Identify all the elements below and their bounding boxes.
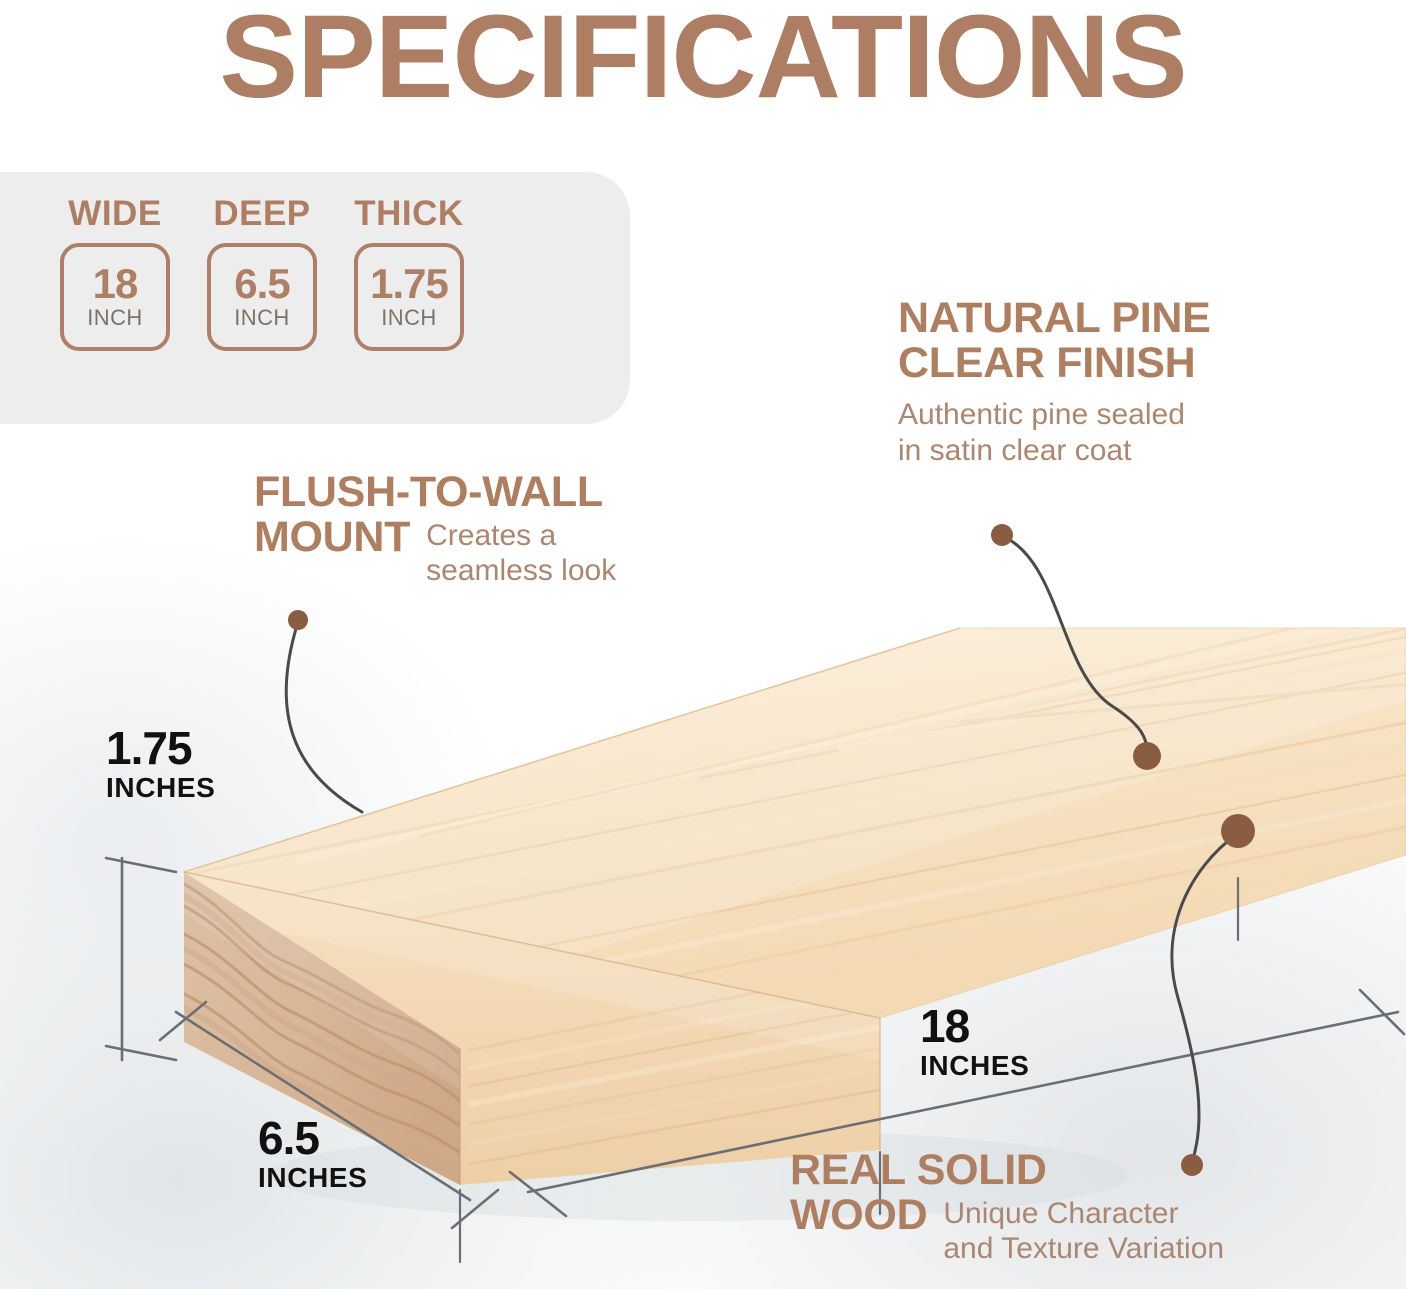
spec-box-deep: 6.5 INCH (207, 243, 317, 351)
callout-flush-body-line2: seamless look (426, 554, 616, 587)
spec-unit-wide: INCH (87, 305, 142, 331)
spec-unit-thick: INCH (381, 305, 436, 331)
dimension-value-thickness: 1.75 (106, 726, 215, 770)
dimension-value-width: 18 (920, 1004, 1029, 1048)
spec-item-deep: DEEP 6.5 INCH (207, 194, 317, 351)
spec-label-deep: DEEP (207, 194, 317, 234)
callout-pine-body-line2: in satin clear coat (898, 434, 1131, 467)
spec-item-thick: THICK 1.75 INCH (354, 194, 464, 351)
callout-flush-headline-line2: MOUNT (254, 515, 410, 560)
page-title: SPECIFICATIONS (0, 0, 1406, 121)
callout-wood-headline-line2: WOOD (790, 1193, 927, 1238)
spec-box-wide: 18 INCH (60, 243, 170, 351)
callout-natural-pine: NATURAL PINE CLEAR FINISH Authentic pine… (898, 296, 1318, 468)
callout-flush-headline-line1: FLUSH-TO-WALL (254, 470, 794, 515)
dimension-label-width: 18 INCHES (920, 1004, 1029, 1082)
spec-value-thick: 1.75 (370, 263, 448, 304)
spec-label-thick: THICK (354, 194, 464, 234)
dimension-value-depth: 6.5 (258, 1116, 367, 1160)
spec-item-list: WIDE 18 INCH DEEP 6.5 INCH THICK 1.75 IN… (60, 194, 464, 351)
dimension-unit-width: INCHES (920, 1050, 1029, 1082)
spec-label-wide: WIDE (60, 194, 170, 234)
spec-unit-deep: INCH (234, 305, 289, 331)
infographic-canvas: SPECIFICATIONS WIDE 18 INCH DEEP 6.5 INC… (0, 0, 1406, 1289)
callout-pine-body: Authentic pine sealed in satin clear coa… (898, 397, 1318, 468)
callout-pine-headline: NATURAL PINE CLEAR FINISH (898, 296, 1318, 385)
spec-item-wide: WIDE 18 INCH (60, 194, 170, 351)
callout-flush-second-row: MOUNT Creates a seamless look (254, 515, 794, 589)
callout-pine-headline-line2: CLEAR FINISH (898, 339, 1195, 387)
dimension-label-depth: 6.5 INCHES (258, 1116, 367, 1194)
dimension-label-thickness: 1.75 INCHES (106, 726, 215, 804)
callout-pine-headline-line1: NATURAL PINE (898, 294, 1211, 342)
spec-value-wide: 18 (93, 263, 138, 304)
spec-box-thick: 1.75 INCH (354, 243, 464, 351)
dimension-unit-depth: INCHES (258, 1162, 367, 1194)
callout-wood-body-line2: and Texture Variation (943, 1232, 1224, 1265)
callout-wood-body-line1: Unique Character (943, 1197, 1178, 1230)
callout-flush-body-line1: Creates a (426, 519, 556, 552)
callout-flush-body: Creates a seamless look (426, 518, 616, 589)
dimension-unit-thickness: INCHES (106, 772, 215, 804)
callout-wood-second-row: WOOD Unique Character and Texture Variat… (790, 1193, 1406, 1267)
callout-pine-body-line1: Authentic pine sealed (898, 398, 1185, 431)
callout-flush-to-wall: FLUSH-TO-WALL MOUNT Creates a seamless l… (254, 470, 794, 589)
callout-wood-headline-line1: REAL SOLID (790, 1148, 1406, 1193)
callout-wood-body: Unique Character and Texture Variation (943, 1196, 1224, 1267)
callout-real-solid-wood: REAL SOLID WOOD Unique Character and Tex… (790, 1148, 1406, 1267)
spec-value-deep: 6.5 (234, 263, 289, 304)
spec-summary-card: WIDE 18 INCH DEEP 6.5 INCH THICK 1.75 IN… (0, 172, 630, 424)
